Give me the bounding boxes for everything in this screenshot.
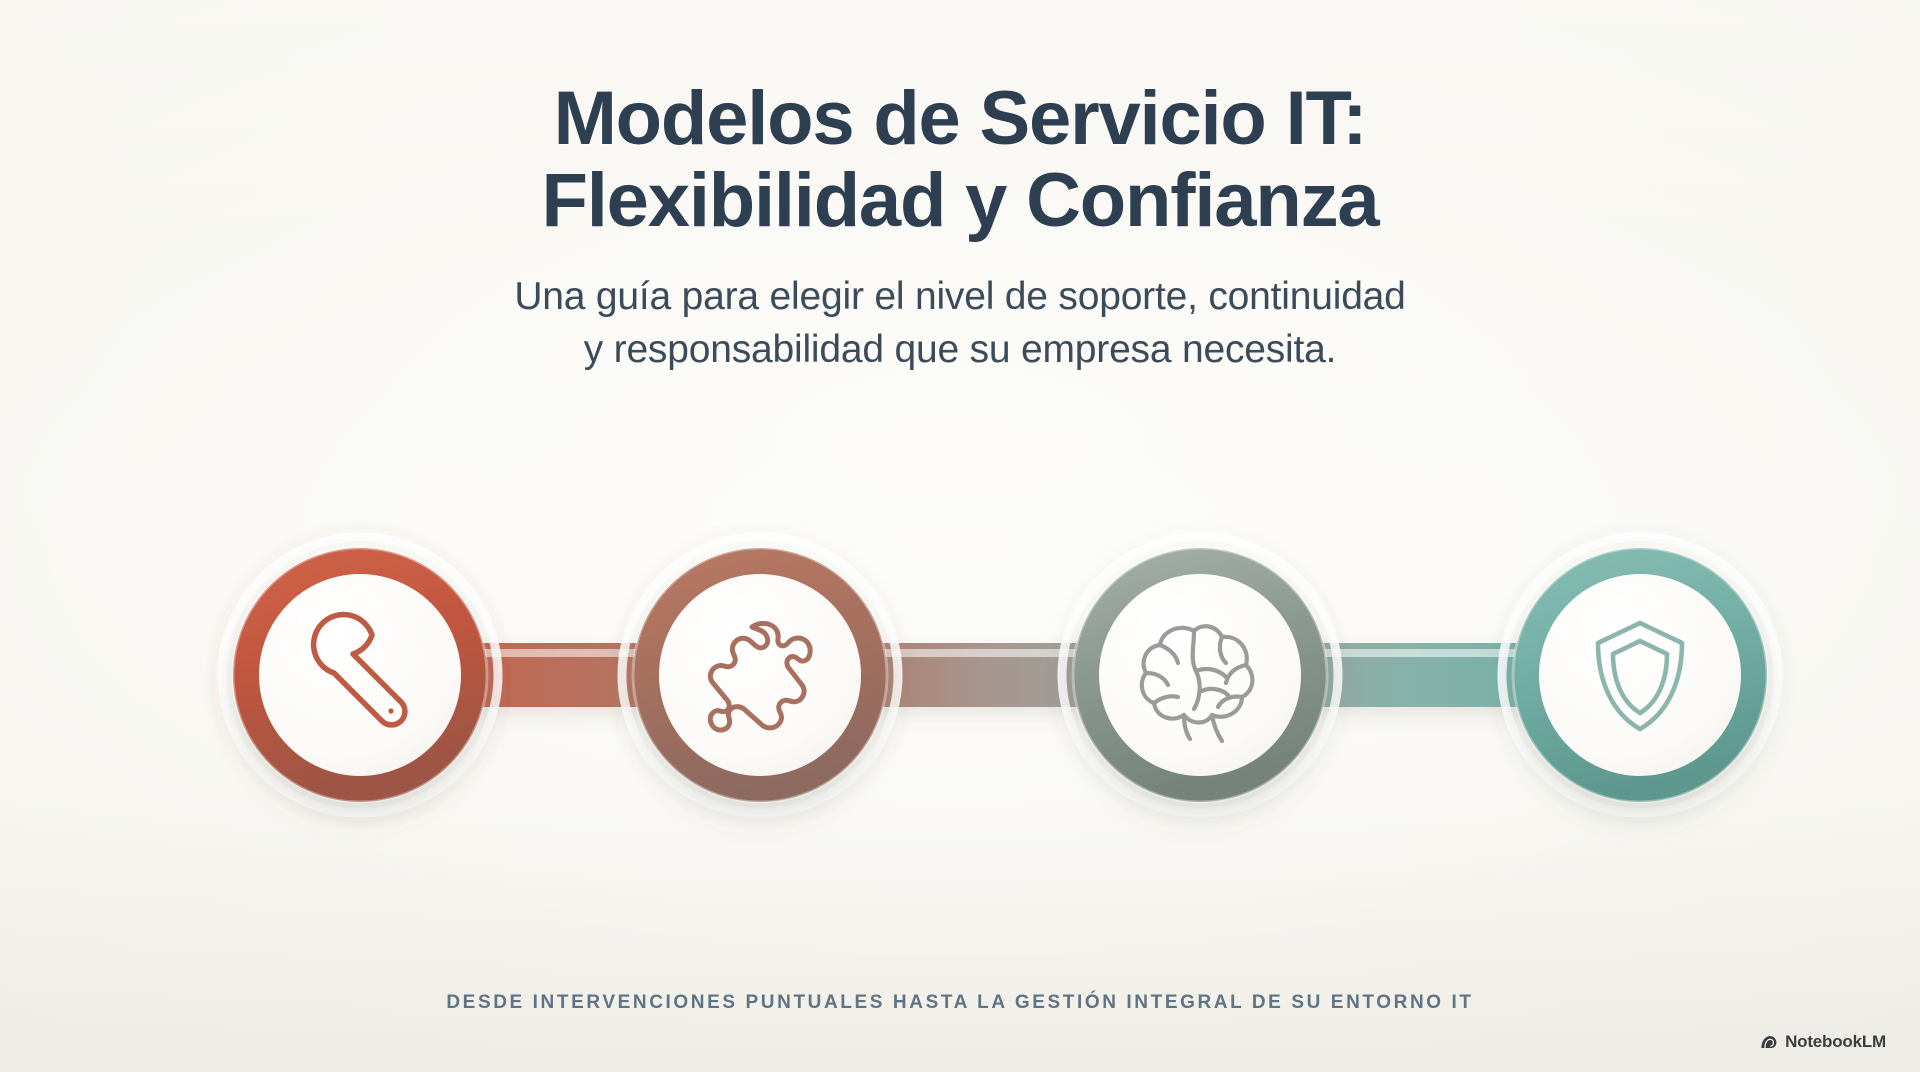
slide-canvas: Modelos de Servicio IT: Flexibilidad y C…	[0, 0, 1920, 1072]
chain-node-wrench[interactable]	[214, 529, 506, 821]
notebooklm-spiral-icon	[1759, 1033, 1778, 1052]
notebooklm-watermark: NotebookLM	[1759, 1032, 1886, 1052]
page-subtitle: Una guía para elegir el nivel de soporte…	[0, 270, 1920, 376]
page-subtitle-line-1: Una guía para elegir el nivel de soporte…	[0, 270, 1920, 323]
page-title: Modelos de Servicio IT: Flexibilidad y C…	[0, 78, 1920, 242]
service-model-chain-diagram	[140, 510, 1780, 840]
header-block: Modelos de Servicio IT: Flexibilidad y C…	[0, 78, 1920, 376]
page-title-line-2: Flexibilidad y Confianza	[0, 160, 1920, 242]
connector-group	[390, 643, 1570, 707]
page-subtitle-line-2: y responsabilidad que su empresa necesit…	[0, 323, 1920, 376]
chain-node-puzzle[interactable]	[614, 529, 906, 821]
page-title-line-1: Modelos de Servicio IT:	[0, 78, 1920, 160]
chain-node-brain[interactable]	[1054, 529, 1346, 821]
chain-node-shield[interactable]	[1494, 529, 1786, 821]
notebooklm-label: NotebookLM	[1785, 1032, 1886, 1052]
footer-caption: DESDE INTERVENCIONES PUNTUALES HASTA LA …	[0, 992, 1920, 1014]
